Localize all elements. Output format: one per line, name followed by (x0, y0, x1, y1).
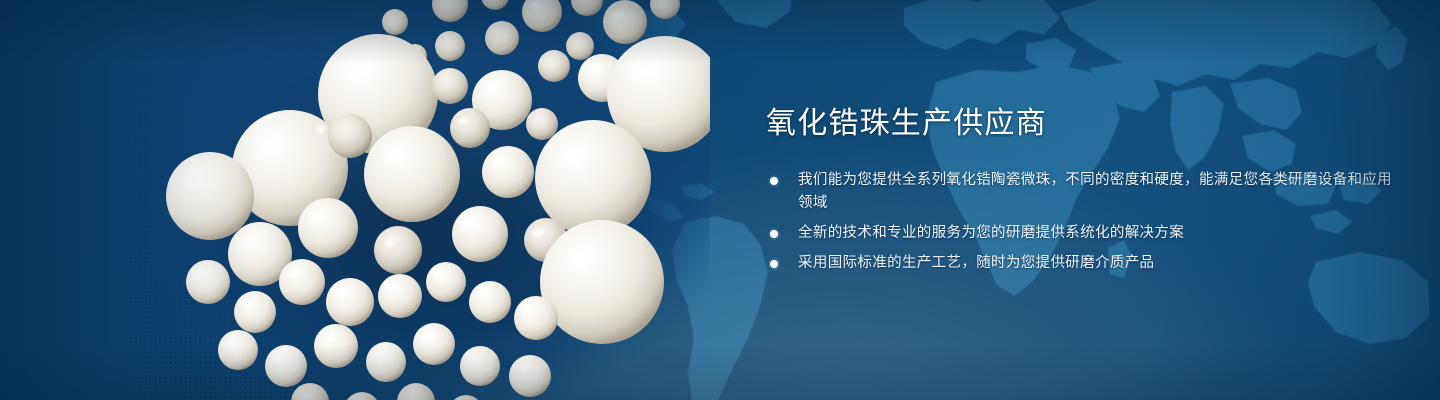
banner-vignette (0, 0, 1440, 400)
hero-banner: 氧化锆珠生产供应商 我们能为您提供全系列氧化锆陶瓷微珠，不同的密度和硬度，能满足… (0, 0, 1440, 400)
